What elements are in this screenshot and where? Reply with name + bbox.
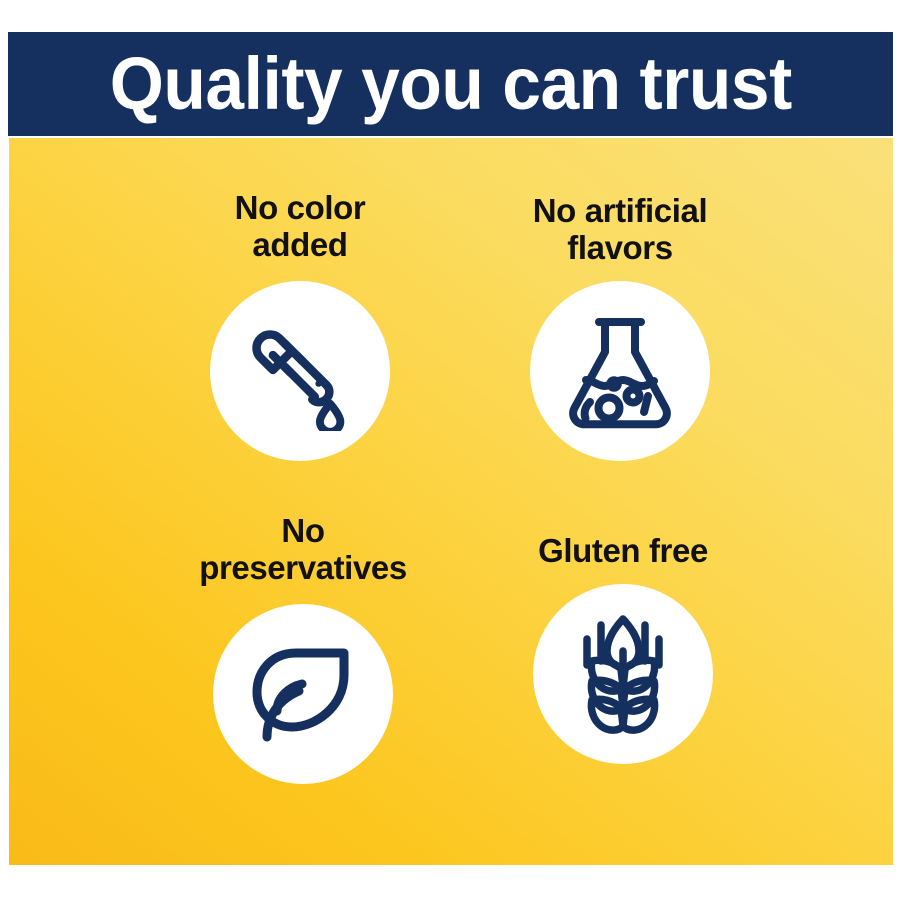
leaf-icon [244, 635, 362, 753]
icon-badge-no-preservatives [213, 604, 393, 784]
icon-badge-gluten-free [533, 584, 713, 764]
quality-you-can-trust-poster: Quality you can trust No color added [0, 0, 900, 900]
wheat-icon [568, 609, 678, 739]
feature-grid-panel: No color added [9, 138, 893, 865]
feature-label-gluten-free: Gluten free [538, 533, 708, 570]
feature-no-preservatives: No preservatives [143, 513, 463, 784]
feature-gluten-free: Gluten free [463, 533, 783, 764]
icon-badge-no-color-added [210, 281, 390, 461]
page-title: Quality you can trust [110, 47, 792, 121]
eyedropper-icon [240, 311, 360, 431]
flask-icon [561, 310, 679, 432]
feature-no-color-added: No color added [140, 190, 460, 461]
feature-no-artificial-flavors: No artificial flavors [460, 193, 780, 461]
feature-label-no-color-added: No color added [235, 190, 366, 264]
feature-label-no-artificial-flavors: No artificial flavors [533, 193, 708, 267]
feature-label-no-preservatives: No preservatives [199, 513, 407, 587]
header-band: Quality you can trust [8, 32, 893, 136]
icon-badge-no-artificial-flavors [530, 281, 710, 461]
